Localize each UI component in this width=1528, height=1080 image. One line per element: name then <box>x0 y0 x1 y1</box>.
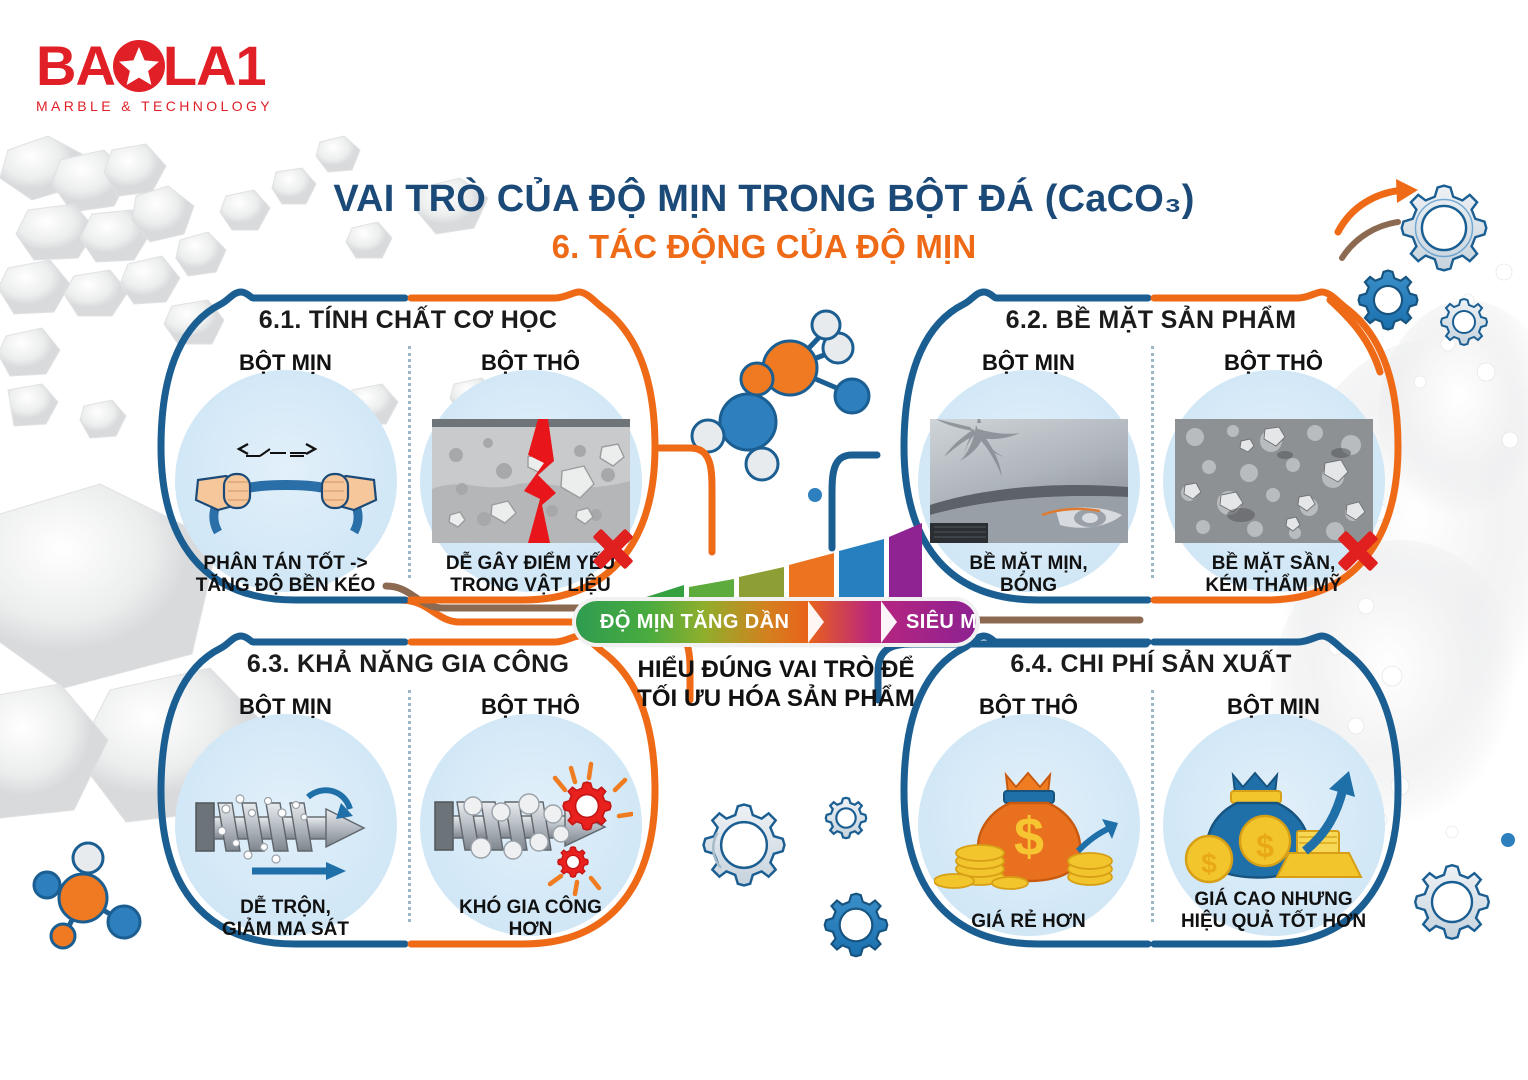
panel-6-2-fine-card[interactable]: BỘT MỊN <box>909 344 1149 592</box>
panel-6-2[interactable]: 6.2. BỀ MẶT SẢN PHẨM BỘT MỊN <box>898 288 1404 606</box>
panel-6-1-fine-caption: BỘT MỊN <box>166 350 406 376</box>
panel-6-1-coarse-card[interactable]: BỘT THÔ <box>411 344 651 592</box>
ramp-bars <box>640 523 922 599</box>
orange-money-bag-coins-icon: $ <box>918 714 1140 936</box>
panel-6-4-coarse-card[interactable]: BỘT THÔ $ <box>909 688 1149 936</box>
panel-6-2-coarse-caption: BỘT THÔ <box>1154 350 1394 376</box>
brand-logo[interactable]: BA LA1 MARBLE & TECHNOLOGY <box>36 38 273 114</box>
x-mark-icon <box>590 526 636 572</box>
panel-6-4-fine-card[interactable]: BỘT MỊN $ $ <box>1154 688 1394 936</box>
panel-6-4-fine-footer: GIÁ CAO NHƯNG HIỆU QUẢ TỐT HƠN <box>1148 889 1400 932</box>
page-subtitle: 6. TÁC ĐỘNG CỦA ĐỘ MỊN <box>0 228 1528 266</box>
decor-dot <box>1501 833 1515 847</box>
molecule-center <box>763 311 869 413</box>
panel-6-3-coarse-caption: BỘT THÔ <box>411 694 651 720</box>
molecule-center-2 <box>692 363 778 480</box>
panel-6-2-fine-caption: BỘT MỊN <box>909 350 1149 376</box>
panel-6-2-coarse-card[interactable]: BỘT THÔ <box>1154 344 1394 592</box>
svg-text:$: $ <box>1201 848 1217 879</box>
fineness-ramp-chart <box>636 513 926 603</box>
brand-wordmark: BA LA1 <box>36 38 273 94</box>
panel-6-3-fine-card[interactable]: BỘT MỊN <box>166 688 406 936</box>
panel-6-3-coarse-card[interactable]: BỘT THÔ <box>411 688 651 936</box>
svg-text:$: $ <box>1256 828 1274 864</box>
panel-6-4-coarse-caption: BỘT THÔ <box>909 694 1149 720</box>
panel-6-3-fine-caption: BỘT MỊN <box>166 694 406 720</box>
pill-right-label: SIÊU MỊN <box>906 601 976 643</box>
panel-6-2-fine-footer: BỀ MẶT MỊN, BÓNG <box>903 553 1155 596</box>
chevron-separator-1 <box>808 601 830 643</box>
panel-6-1-fine-card[interactable]: BỘT MỊN <box>166 344 406 592</box>
molecule-bottom-left <box>34 843 140 948</box>
chevron-separator-2 <box>881 601 903 643</box>
panel-6-3-coarse-footer: KHÓ GIA CÔNG HƠN <box>405 897 657 940</box>
panel-6-3-fine-footer: DỄ TRỘN, GIẢM MA SÁT <box>160 897 412 940</box>
fineness-scale-pill[interactable]: ĐỘ MỊN TĂNG DẦN SIÊU MỊN <box>576 601 976 643</box>
brand-name-part1: BA <box>36 38 115 94</box>
brand-name-part2: LA1 <box>163 38 266 94</box>
page-title: VAI TRÒ CỦA ĐỘ MỊN TRONG BỘT ĐÁ (CaCO₃) <box>0 178 1528 221</box>
brand-tagline: MARBLE & TECHNOLOGY <box>36 98 273 114</box>
panel-6-1-fine-footer: PHÂN TÁN TỐT -> TĂNG ĐỘ BỀN KÉO <box>160 553 412 596</box>
panel-6-1[interactable]: 6.1. TÍNH CHẤT CƠ HỌC BỘT MỊN <box>155 288 661 606</box>
infographic-canvas: BA LA1 MARBLE & TECHNOLOGY VAI TRÒ CỦA Đ… <box>0 0 1528 1080</box>
gear-bottom-right <box>1415 865 1489 939</box>
x-mark-icon <box>1335 528 1381 574</box>
svg-text:$: $ <box>1013 807 1043 867</box>
panel-6-2-title: 6.2. BỀ MẶT SẢN PHẨM <box>898 306 1404 335</box>
star-icon <box>113 40 165 92</box>
panel-6-4-coarse-footer: GIÁ RẺ HƠN <box>903 911 1155 932</box>
gear-cluster-bottom-center <box>704 798 888 957</box>
panel-6-1-coarse-caption: BỘT THÔ <box>411 350 651 376</box>
panel-6-1-title: 6.1. TÍNH CHẤT CƠ HỌC <box>155 306 661 335</box>
molecule-dot <box>808 488 822 502</box>
panel-6-4-fine-caption: BỘT MỊN <box>1154 694 1394 720</box>
pill-left-label: ĐỘ MỊN TĂNG DẦN <box>600 601 789 643</box>
